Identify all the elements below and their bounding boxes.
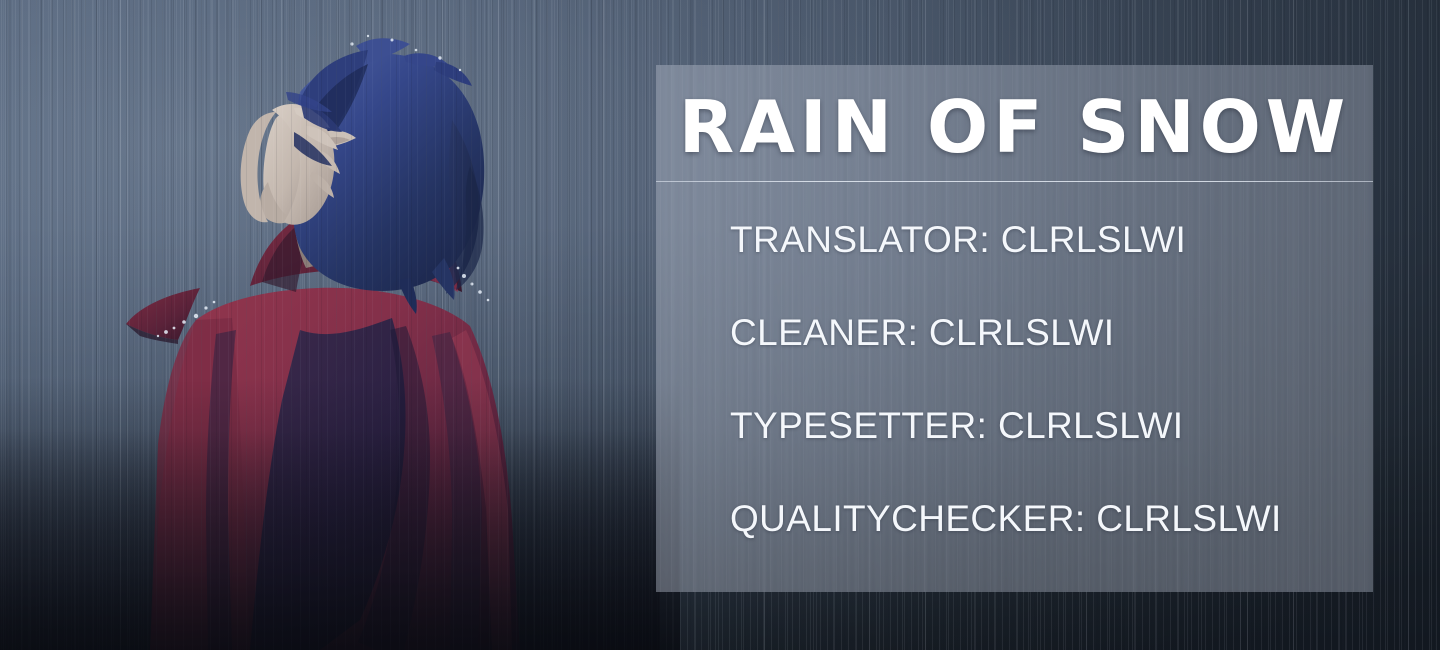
credit-text-typesetter: TYPESETTER: CLRLSLWI xyxy=(730,406,1183,446)
title-divider xyxy=(656,181,1373,182)
credit-row-qualitychecker: QUALITYCHECKER: CLRLSLWI xyxy=(730,499,1343,592)
credit-row-translator: TRANSLATOR: CLRLSLWI xyxy=(730,220,1343,313)
credits-page-scene: RAIN OF SNOW TRANSLATOR: CLRLSLWI CLEANE… xyxy=(0,0,1440,650)
artwork-bottom-fade xyxy=(0,430,660,650)
credits-list: TRANSLATOR: CLRLSLWI CLEANER: CLRLSLWI T… xyxy=(730,220,1343,592)
credit-row-typesetter: TYPESETTER: CLRLSLWI xyxy=(730,406,1343,499)
title-container: RAIN OF SNOW xyxy=(656,91,1373,163)
credit-row-cleaner: CLEANER: CLRLSLWI xyxy=(730,313,1343,406)
credit-text-qualitychecker: QUALITYCHECKER: CLRLSLWI xyxy=(730,499,1282,539)
credit-text-translator: TRANSLATOR: CLRLSLWI xyxy=(730,220,1186,260)
credits-panel: RAIN OF SNOW TRANSLATOR: CLRLSLWI CLEANE… xyxy=(656,65,1373,592)
character-illustration xyxy=(0,0,660,650)
series-title: RAIN OF SNOW xyxy=(679,91,1350,163)
credit-text-cleaner: CLEANER: CLRLSLWI xyxy=(730,313,1114,353)
